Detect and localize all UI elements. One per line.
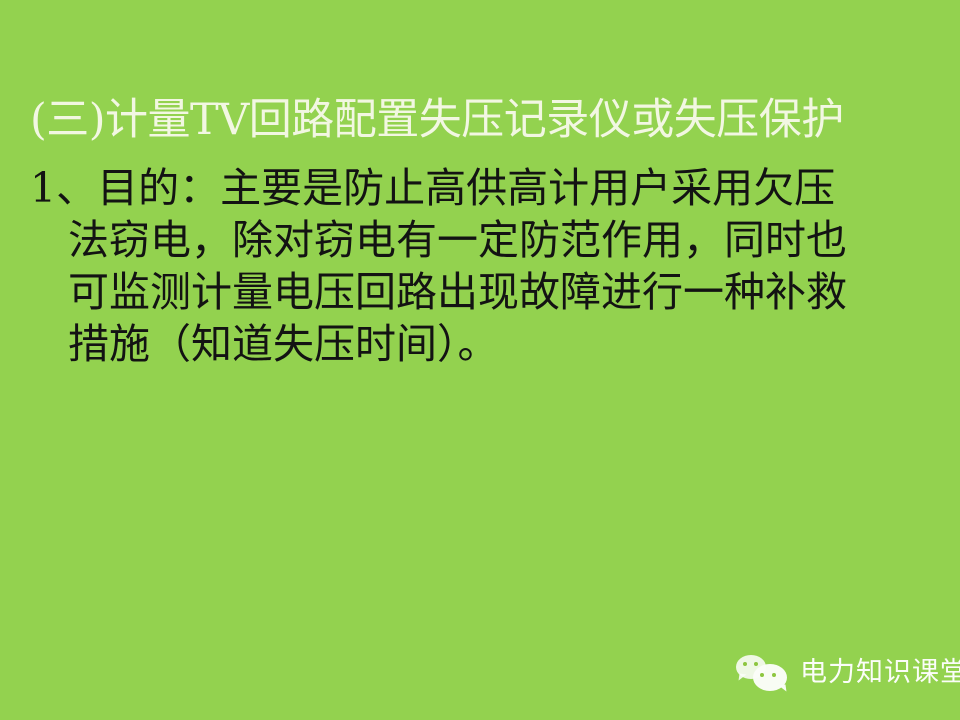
wechat-eye [743, 662, 747, 666]
body-line: 措施（知道失压时间）。 [30, 318, 930, 370]
slide-body: 1、目的：主要是防止高供高计用户采用欠压 法窃电，除对窃电有一定防范作用，同时也… [30, 162, 930, 370]
body-line: 1、目的：主要是防止高供高计用户采用欠压 [30, 162, 930, 214]
wechat-bubble-small-tail [739, 674, 747, 682]
watermark-label: 电力知识课堂 [800, 657, 960, 689]
wechat-eye [772, 673, 776, 677]
body-line: 可监测计量电压回路出现故障进行一种补救 [30, 266, 930, 318]
wechat-icon [736, 653, 788, 693]
slide-title: (三)计量TV回路配置失压记录仪或失压保护 [30, 94, 935, 146]
body-line: 法窃电，除对窃电有一定防范作用，同时也 [30, 214, 930, 266]
wechat-bubble-large-tail [779, 685, 787, 693]
slide-canvas: (三)计量TV回路配置失压记录仪或失压保护 1、目的：主要是防止高供高计用户采用… [0, 0, 960, 720]
watermark: 电力知识课堂 [736, 653, 960, 693]
wechat-eye [760, 673, 764, 677]
wechat-eye [754, 662, 758, 666]
